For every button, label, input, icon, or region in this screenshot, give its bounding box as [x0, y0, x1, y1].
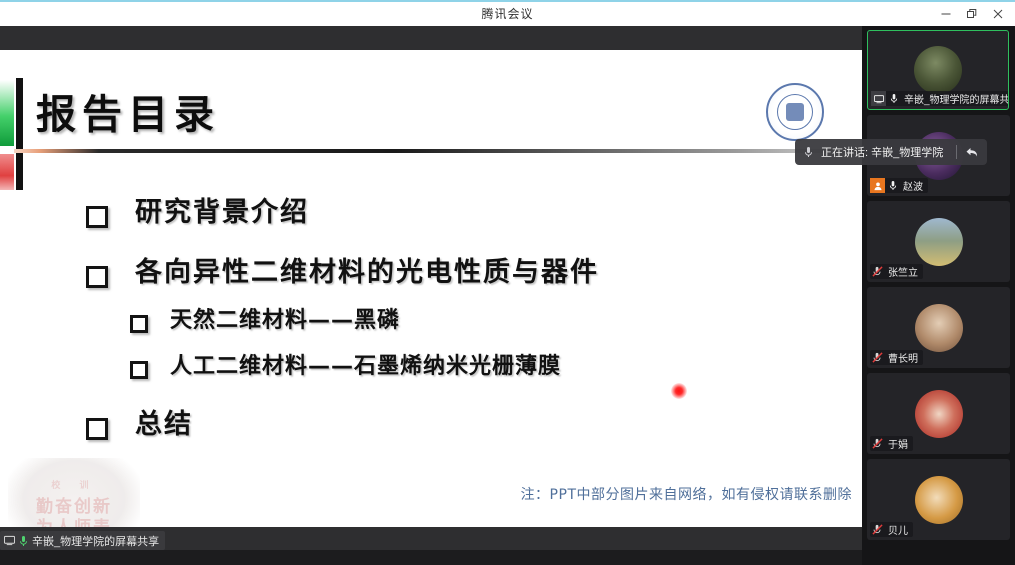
participant-label: 赵波 — [870, 178, 928, 193]
microphone-icon — [795, 146, 821, 158]
screen-share-badge-icon — [871, 91, 886, 106]
title-underline — [14, 149, 862, 153]
microphone-muted-icon — [870, 436, 885, 451]
bullet-item: 人工二维材料——石墨烯纳米光栅薄膜 — [130, 334, 862, 380]
participant-label: 于娟 — [870, 436, 913, 451]
bullet-item: 各向异性二维材料的光电性质与器件 — [86, 228, 862, 288]
bullet-text: 总结 — [135, 410, 193, 440]
bullet-text: 天然二维材料——黑磷 — [170, 308, 400, 334]
avatar — [914, 46, 962, 94]
share-top-bar — [0, 26, 862, 50]
laser-pointer-dot — [671, 383, 687, 399]
bullet-text: 研究背景介绍 — [135, 198, 309, 228]
screen-share-icon — [4, 535, 15, 546]
participant-tile[interactable]: 于娟 — [867, 373, 1010, 454]
participant-name: 曹长明 — [888, 350, 918, 365]
participant-name: 贝儿 — [888, 522, 908, 537]
participant-tile[interactable]: 张竺立 — [867, 201, 1010, 282]
speaking-toast: 正在讲话: 辛嵌_物理学院 — [795, 139, 987, 165]
microphone-muted-icon — [870, 264, 885, 279]
bullet-text: 各向异性二维材料的光电性质与器件 — [135, 258, 599, 288]
participant-label: 辛嵌_物理学院的屏幕共享 — [871, 91, 1009, 106]
bullet-square-icon — [86, 266, 108, 288]
participant-tile[interactable]: 辛嵌_物理学院的屏幕共享 — [867, 30, 1009, 110]
participant-label: 曹长明 — [870, 350, 923, 365]
bullet-item: 天然二维材料——黑磷 — [130, 288, 862, 334]
bullet-square-icon — [86, 418, 108, 440]
participants-rail[interactable]: 辛嵌_物理学院的屏幕共享 — [862, 26, 1015, 565]
accent-bar-green — [0, 80, 14, 146]
microphone-muted-icon — [870, 522, 885, 537]
motto-line-2: 为人师表 — [36, 518, 112, 527]
avatar — [915, 218, 963, 266]
bullet-square-icon — [86, 206, 108, 228]
window-title: 腾讯会议 — [0, 2, 1015, 26]
participant-tile[interactable]: 贝儿 — [867, 459, 1010, 540]
speaking-toast-text: 正在讲话: 辛嵌_物理学院 — [821, 144, 956, 160]
logo-ring — [777, 94, 813, 130]
return-arrow-icon[interactable] — [957, 146, 987, 158]
microphone-icon — [19, 535, 28, 547]
participant-label: 张竺立 — [870, 264, 923, 279]
share-indicator-label: 辛嵌_物理学院的屏幕共享 — [32, 533, 159, 549]
microphone-icon — [885, 178, 900, 193]
presentation-slide: 报告目录 研究背景介绍 各向异性二维材料的光电性质与器件 天然二维材料——黑磷 — [0, 50, 862, 527]
participant-label: 贝儿 — [870, 522, 913, 537]
bullet-list: 研究背景介绍 各向异性二维材料的光电性质与器件 天然二维材料——黑磷 人工二维材… — [0, 168, 862, 440]
close-button[interactable] — [985, 2, 1011, 26]
participant-tile[interactable]: 曹长明 — [867, 287, 1010, 368]
participant-name: 于娟 — [888, 436, 908, 451]
shared-screen-area: 报告目录 研究背景介绍 各向异性二维材料的光电性质与器件 天然二维材料——黑磷 — [0, 26, 862, 550]
slide-title: 报告目录 — [36, 82, 220, 140]
participant-name: 张竺立 — [888, 264, 918, 279]
bullet-item: 总结 — [86, 380, 862, 440]
share-bottom-strip: 辛嵌_物理学院的屏幕共享 — [0, 527, 862, 550]
avatar — [915, 304, 963, 352]
microphone-icon — [886, 91, 901, 106]
logo-core — [786, 103, 804, 121]
tencent-meeting-window: 腾讯会议 — [0, 0, 1015, 565]
title-bar: 腾讯会议 — [0, 0, 1015, 26]
slide-footer-note: 注：PPT中部分图片来自网络，如有侵权请联系删除 — [0, 484, 862, 504]
bullet-text: 人工二维材料——石墨烯纳米光栅薄膜 — [170, 354, 561, 380]
bullet-square-icon — [130, 315, 148, 333]
avatar — [915, 476, 963, 524]
participant-name: 赵波 — [903, 178, 923, 193]
restore-button[interactable] — [959, 2, 985, 26]
host-badge-icon — [870, 178, 885, 193]
bullet-item: 研究背景介绍 — [86, 168, 862, 228]
minimize-button[interactable] — [933, 2, 959, 26]
university-logo-icon — [766, 83, 824, 141]
avatar — [915, 390, 963, 438]
window-controls — [933, 2, 1011, 26]
participant-name: 辛嵌_物理学院的屏幕共享 — [904, 91, 1009, 106]
share-indicator-chip[interactable]: 辛嵌_物理学院的屏幕共享 — [0, 531, 165, 550]
microphone-muted-icon — [870, 350, 885, 365]
bullet-square-icon — [130, 361, 148, 379]
